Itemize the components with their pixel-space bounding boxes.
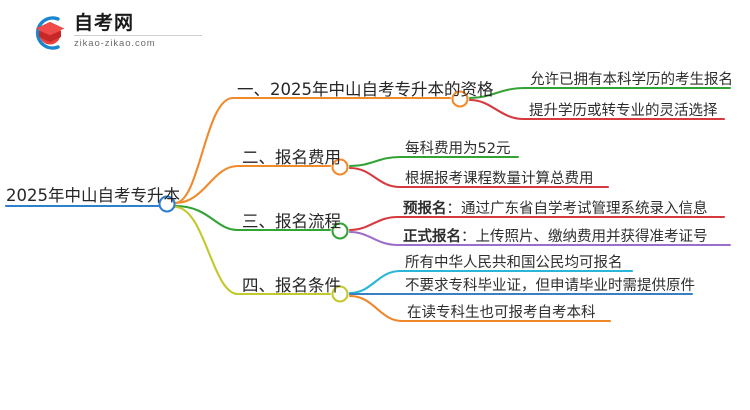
mindmap-root-label[interactable]: 2025年中山自考专升本: [6, 188, 180, 205]
edge-b1-c2: [470, 100, 524, 119]
branch-2-text: 二、报名费用: [242, 150, 341, 167]
branch-4-label[interactable]: 四、报名条件: [242, 278, 341, 295]
edge-b4-c3: [350, 296, 402, 321]
branch-1-child-2[interactable]: 提升学历或转专业的灵活选择: [529, 104, 718, 119]
branch-3-child-1-prefix: 预报名: [403, 202, 447, 217]
branch-1-child-1[interactable]: 允许已拥有本科学历的考生报名: [530, 73, 733, 88]
branch-1-label[interactable]: 一、2025年中山自考专升本的资格: [237, 82, 494, 99]
edge-b3-c2: [350, 232, 398, 245]
branch-3-label[interactable]: 三、报名流程: [242, 214, 341, 231]
root-label-text: 2025年中山自考专升本: [6, 188, 180, 205]
branch-3-text: 三、报名流程: [242, 214, 341, 231]
edge-b2-c1: [350, 157, 400, 166]
branch-4-child-3[interactable]: 在读专科生也可报考自考本科: [407, 306, 596, 321]
branch-1-child-2-text: 提升学历或转专业的灵活选择: [529, 104, 718, 119]
branch-1-child-1-text: 允许已拥有本科学历的考生报名: [530, 73, 733, 88]
edge-root-b4: [175, 207, 238, 294]
branch-2-label[interactable]: 二、报名费用: [242, 150, 341, 167]
branch-3-child-2-text: ：上传照片、缴纳费用并获得准考证号: [461, 230, 708, 245]
edge-b3-c1: [350, 217, 398, 230]
branch-4-child-1[interactable]: 所有中华人民共和国公民均可报名: [405, 256, 623, 271]
branch-2-child-2-text: 根据报考课程数量计算总费用: [405, 172, 594, 187]
branch-4-child-1-text: 所有中华人民共和国公民均可报名: [405, 256, 623, 271]
edge-b4-c1: [350, 271, 400, 293]
branch-3-child-1[interactable]: 预报名：通过广东省自学考试管理系统录入信息: [403, 202, 708, 217]
branch-2-child-1-text: 每科费用为52元: [405, 142, 510, 157]
branch-2-child-2[interactable]: 根据报考课程数量计算总费用: [405, 172, 594, 187]
branch-3-child-2-prefix: 正式报名: [403, 230, 461, 245]
branch-2-child-1[interactable]: 每科费用为52元: [405, 142, 510, 157]
branch-4-child-2-text: 不要求专科毕业证，但申请毕业时需提供原件: [405, 279, 695, 294]
branch-3-child-1-text: ：通过广东省自学考试管理系统录入信息: [447, 202, 708, 217]
branch-4-child-2[interactable]: 不要求专科毕业证，但申请毕业时需提供原件: [405, 279, 695, 294]
edge-b2-c2: [350, 168, 400, 187]
branch-4-child-3-text: 在读专科生也可报考自考本科: [407, 306, 596, 321]
branch-3-child-2[interactable]: 正式报名：上传照片、缴纳费用并获得准考证号: [403, 230, 708, 245]
branch-4-text: 四、报名条件: [242, 278, 341, 295]
branch-1-text: 一、2025年中山自考专升本的资格: [237, 82, 494, 99]
